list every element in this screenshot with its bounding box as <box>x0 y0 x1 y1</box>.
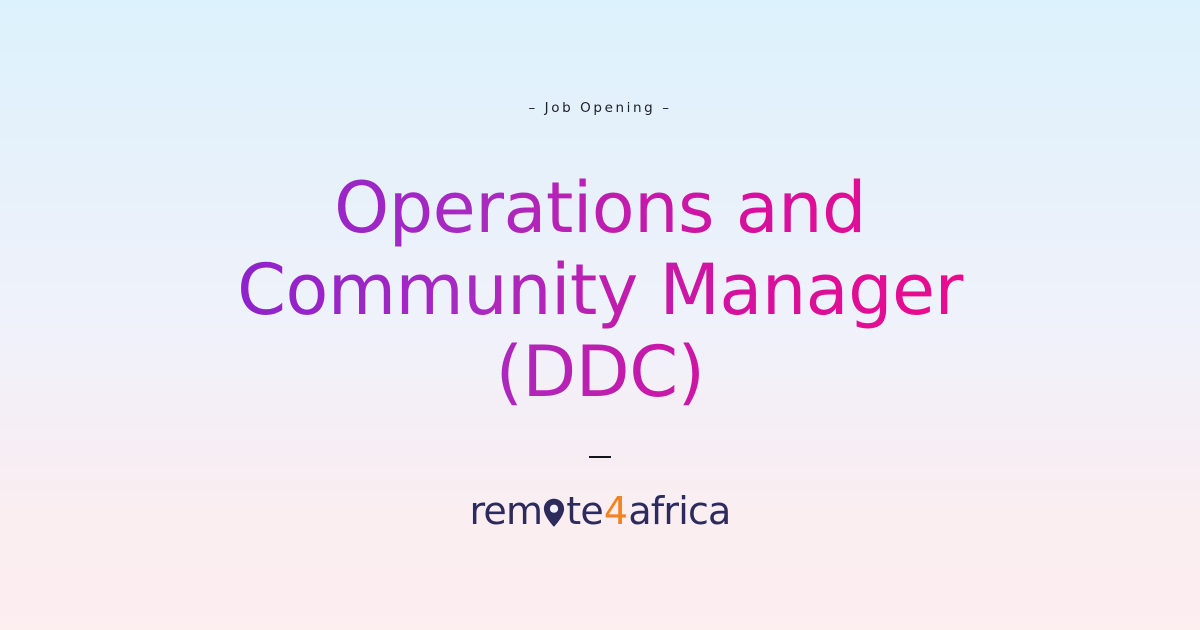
job-opening-card: – Job Opening – Operations and Community… <box>0 0 1200 630</box>
eyebrow-label: – Job Opening – <box>528 100 671 116</box>
page-title: Operations and Community Manager (DDC) <box>220 168 980 414</box>
brand-prefix: rem <box>469 492 542 530</box>
brand-numeral-four: 4 <box>603 492 628 530</box>
map-pin-icon <box>543 498 565 528</box>
brand-suffix: africa <box>628 492 730 530</box>
brand-middle: te <box>566 492 603 530</box>
card-content: – Job Opening – Operations and Community… <box>100 100 1100 530</box>
brand-logo: rem te 4 africa <box>469 492 730 530</box>
title-divider <box>589 456 611 458</box>
